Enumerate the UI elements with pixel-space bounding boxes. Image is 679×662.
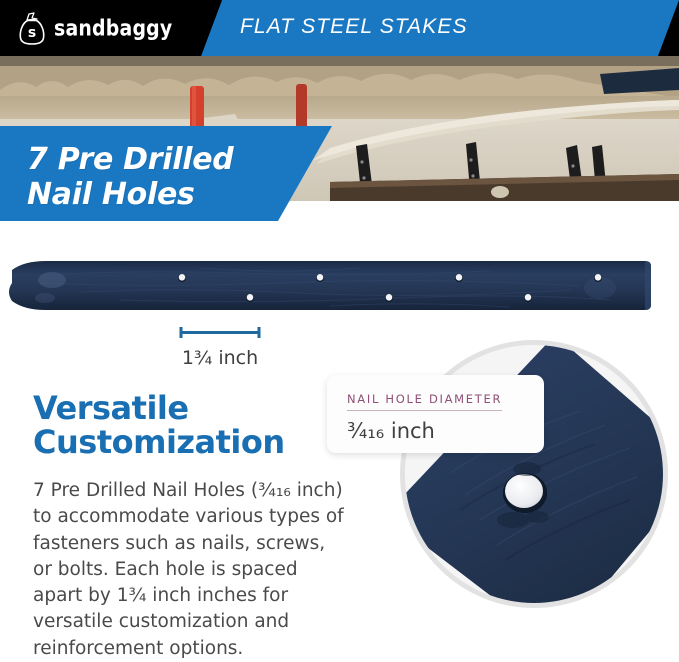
brand-name: sandbaggy [54,15,172,40]
dimension-label: 1¾ inch [170,347,270,369]
page-header: s sandbaggy FLAT STEEL STAKES [0,0,679,56]
callout-label: NAIL HOLE DIAMETER [347,392,502,411]
section-title: Versatile Customization [33,392,333,459]
header-title: FLAT STEEL STAKES [240,15,468,39]
product-stake-image [0,248,679,323]
nail-hole-diameter-callout: NAIL HOLE DIAMETER ¾₁₆ inch [327,375,544,453]
headline-text: 7 Pre Drilled Nail Holes [27,142,233,213]
dimension-indicator [170,325,270,341]
svg-text:s: s [28,25,36,41]
section-body: 7 Pre Drilled Nail Holes (¾₁₆ inch) to a… [33,478,349,662]
callout-value: ¾₁₆ inch [347,419,544,443]
brand-logo[interactable]: s sandbaggy [17,8,172,48]
sandbag-icon: s [17,12,47,45]
